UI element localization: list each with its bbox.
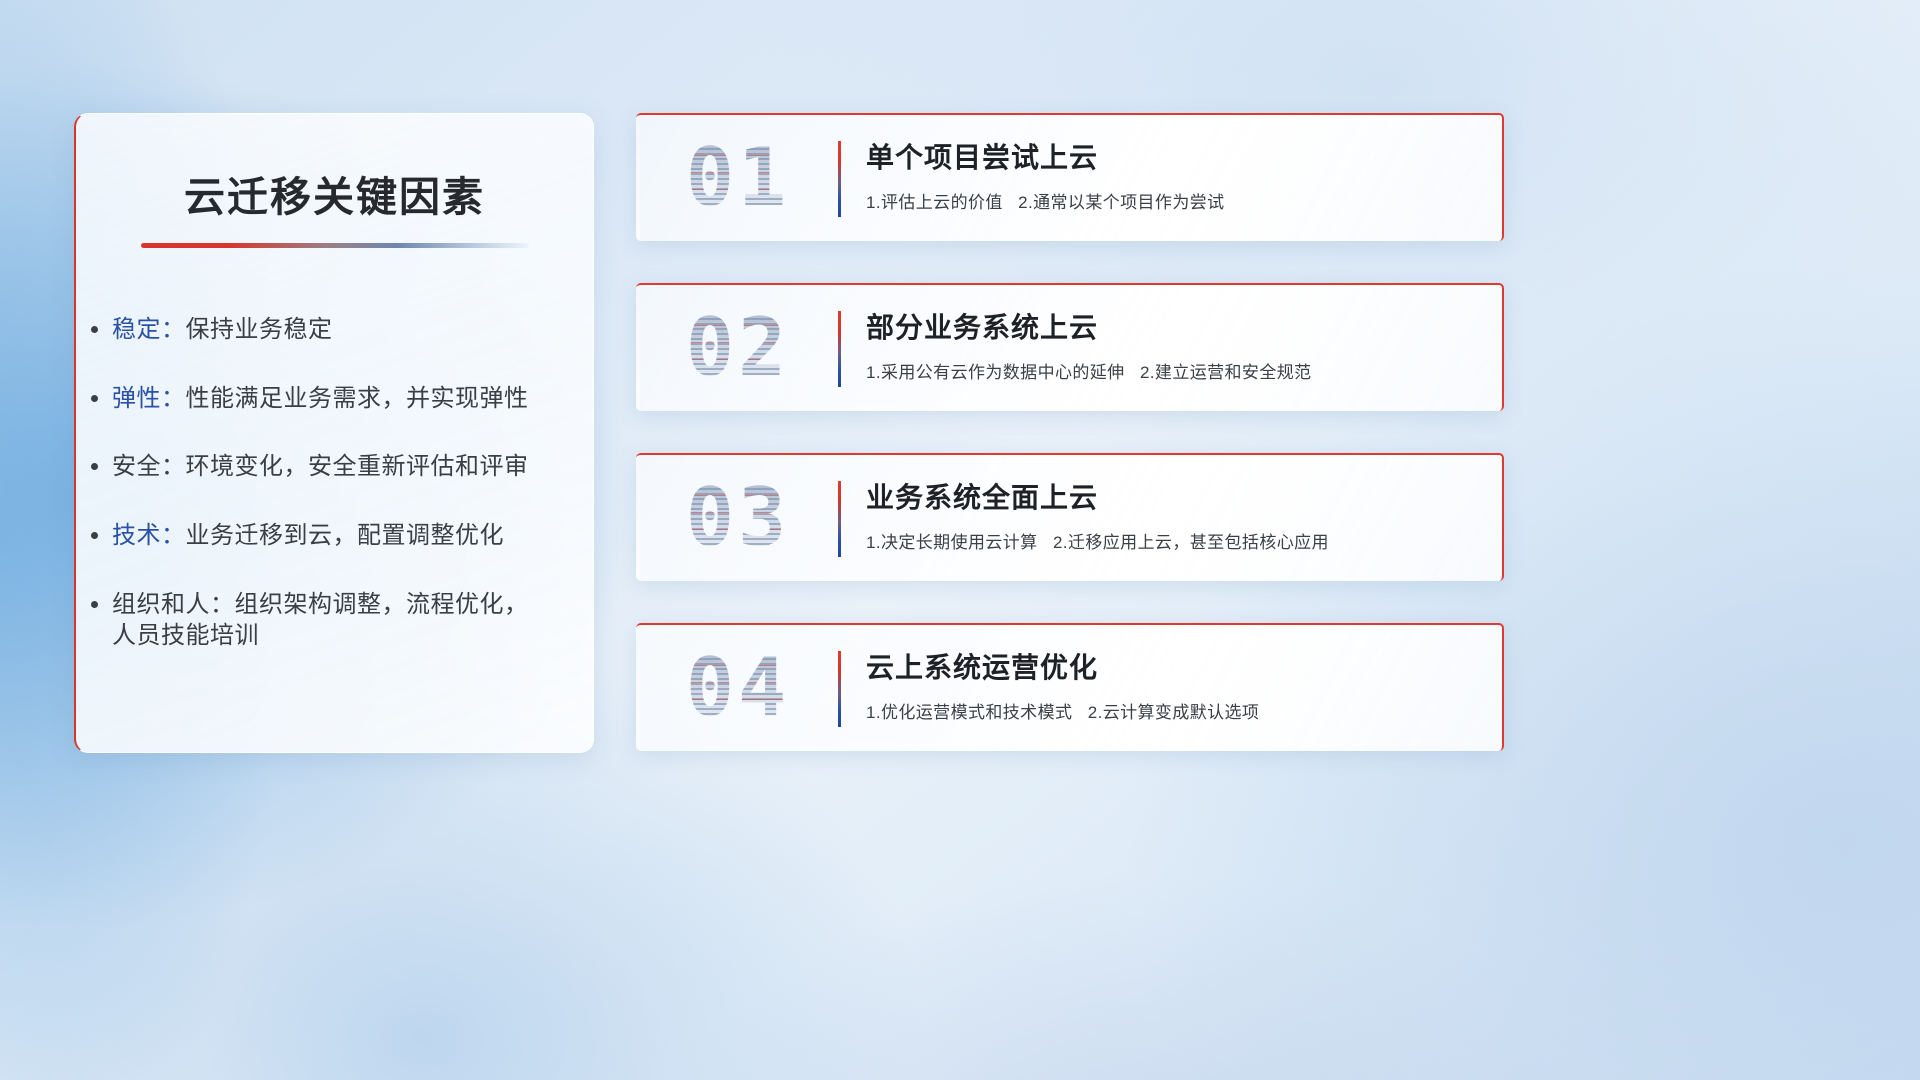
factor-list: 稳定：保持业务稳定弹性：性能满足业务需求，并实现弹性安全：环境变化，安全重新评估… xyxy=(76,314,593,652)
factor-label: 弹性： xyxy=(112,385,186,412)
factor-text: 业务迁移到云，配置调整优化 xyxy=(186,522,505,549)
step-title: 业务系统全面上云 xyxy=(866,480,1478,515)
step-description: 1.决定长期使用云计算 2.迁移应用上云，甚至包括核心应用 xyxy=(866,528,1478,553)
factor-item: 稳定：保持业务稳定 xyxy=(112,314,567,346)
step-body: 云上系统运营优化1.优化运营模式和技术模式 2.云计算变成默认选项 xyxy=(866,650,1478,723)
factor-item: 组织和人：组织架构调整，流程优化， 人员技能培训 xyxy=(112,589,567,652)
panel-title: 云迁移关键因素 xyxy=(76,163,593,223)
step-index-number: 04 xyxy=(658,648,818,728)
slide-canvas: 云迁移关键因素 稳定：保持业务稳定弹性：性能满足业务需求，并实现弹性安全：环境变… xyxy=(0,0,1920,1080)
step-divider-rule xyxy=(838,141,841,217)
title-underline-rule xyxy=(141,243,529,248)
step-title: 部分业务系统上云 xyxy=(866,310,1478,345)
step-description: 1.评估上云的价值 2.通常以某个项目作为尝试 xyxy=(866,188,1478,213)
factor-label: 稳定： xyxy=(112,316,186,343)
step-divider-rule xyxy=(838,311,841,387)
factor-item: 弹性：性能满足业务需求，并实现弹性 xyxy=(112,383,567,415)
step-card[interactable]: 0101单个项目尝试上云1.评估上云的价值 2.通常以某个项目作为尝试 xyxy=(636,113,1504,241)
factor-label: 安全： xyxy=(112,453,186,480)
step-divider-rule xyxy=(838,481,841,557)
step-index-number: 03 xyxy=(658,478,818,558)
factor-text: 性能满足业务需求，并实现弹性 xyxy=(186,385,529,412)
factor-label: 组织和人： xyxy=(112,591,235,618)
factor-text: 保持业务稳定 xyxy=(186,316,333,343)
step-title: 单个项目尝试上云 xyxy=(866,140,1478,175)
step-index-number: 02 xyxy=(658,308,818,388)
factor-text: 环境变化，安全重新评估和评审 xyxy=(186,453,529,480)
factor-item: 技术：业务迁移到云，配置调整优化 xyxy=(112,520,567,552)
step-card[interactable]: 0303业务系统全面上云1.决定长期使用云计算 2.迁移应用上云，甚至包括核心应… xyxy=(636,453,1504,581)
step-body: 单个项目尝试上云1.评估上云的价值 2.通常以某个项目作为尝试 xyxy=(866,140,1478,213)
step-title: 云上系统运营优化 xyxy=(866,650,1478,685)
migration-steps-list: 0101单个项目尝试上云1.评估上云的价值 2.通常以某个项目作为尝试0202部… xyxy=(636,113,1504,751)
step-divider-rule xyxy=(838,651,841,727)
key-factors-panel: 云迁移关键因素 稳定：保持业务稳定弹性：性能满足业务需求，并实现弹性安全：环境变… xyxy=(74,113,594,753)
step-index-number: 01 xyxy=(658,138,818,218)
step-description: 1.优化运营模式和技术模式 2.云计算变成默认选项 xyxy=(866,698,1478,723)
factor-label: 技术： xyxy=(112,522,186,549)
step-description: 1.采用公有云作为数据中心的延伸 2.建立运营和安全规范 xyxy=(866,358,1478,383)
step-card[interactable]: 0202部分业务系统上云1.采用公有云作为数据中心的延伸 2.建立运营和安全规范 xyxy=(636,283,1504,411)
step-body: 部分业务系统上云1.采用公有云作为数据中心的延伸 2.建立运营和安全规范 xyxy=(866,310,1478,383)
factor-item: 安全：环境变化，安全重新评估和评审 xyxy=(112,451,567,483)
step-card[interactable]: 0404云上系统运营优化1.优化运营模式和技术模式 2.云计算变成默认选项 xyxy=(636,623,1504,751)
step-body: 业务系统全面上云1.决定长期使用云计算 2.迁移应用上云，甚至包括核心应用 xyxy=(866,480,1478,553)
